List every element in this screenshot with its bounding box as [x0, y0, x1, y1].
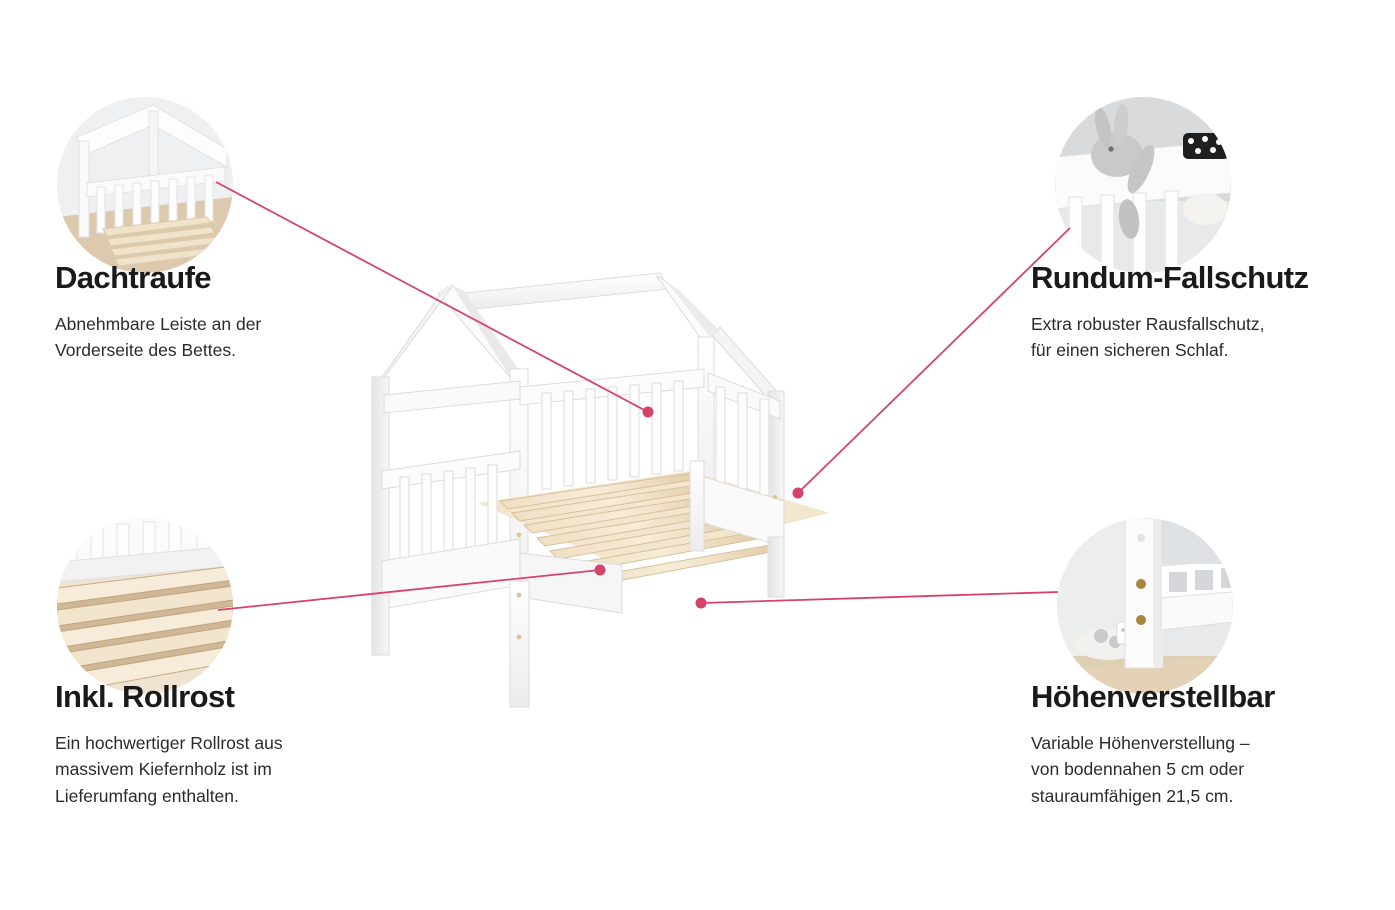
photo-dachtraufe	[57, 97, 233, 273]
photo-fallschutz	[1055, 97, 1231, 273]
feature-description: Extra robuster Rausfallschutz, für einen…	[1031, 311, 1308, 364]
photo-hoehenverstellung	[1057, 518, 1233, 694]
photo-rollrost	[57, 518, 233, 694]
feature-title: Höhenverstellbar	[1031, 681, 1275, 714]
feature-hoehenverstellbar: Höhenverstellbar Variable Höhenverstellu…	[1031, 681, 1275, 809]
feature-rollrost: Inkl. Rollrost Ein hochwertiger Rollrost…	[55, 681, 283, 809]
feature-dachtraufe: Dachtraufe Abnehmbare Leiste an der Vord…	[55, 262, 261, 364]
infographic-stage: Dachtraufe Abnehmbare Leiste an der Vord…	[0, 0, 1395, 910]
bed-illustration	[360, 265, 900, 735]
feature-title: Dachtraufe	[55, 262, 261, 295]
feature-title: Inkl. Rollrost	[55, 681, 283, 714]
product-photo-bed	[360, 265, 900, 735]
feature-description: Abnehmbare Leiste an der Vorderseite des…	[55, 311, 261, 364]
feature-description: Variable Höhenverstellung – von bodennah…	[1031, 730, 1275, 810]
feature-title: Rundum-Fallschutz	[1031, 262, 1308, 295]
feature-description: Ein hochwertiger Rollrost aus massivem K…	[55, 730, 283, 810]
feature-fallschutz: Rundum-Fallschutz Extra robuster Rausfal…	[1031, 262, 1308, 364]
